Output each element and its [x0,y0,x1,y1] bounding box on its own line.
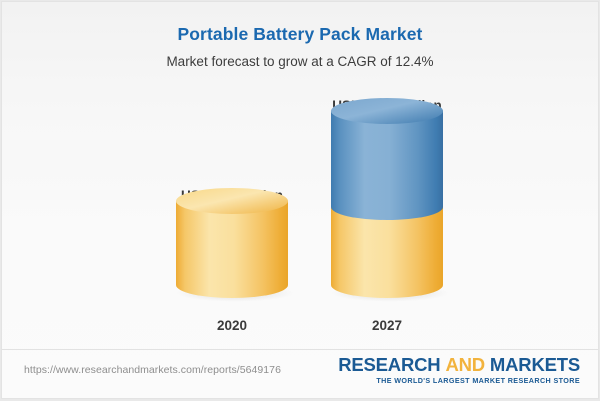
bar-group-2027: USD 17.68 billion [307,2,467,347]
cylinder-2020-svg [167,187,297,307]
brand-logo[interactable]: RESEARCHANDMARKETS THE WORLD'S LARGEST M… [338,355,580,385]
cylinder-2027 [322,97,452,312]
logo-wordmark: RESEARCHANDMARKETS [338,355,580,374]
cylinder-top-cap [331,98,443,124]
cylinder-body [176,201,288,298]
chart-plot-area: USD 7.83 billion [2,2,598,347]
category-label-2027: 2027 [307,318,467,333]
cylinder-segment-base [331,207,443,298]
cylinder-2020 [167,187,297,312]
logo-tagline: THE WORLD'S LARGEST MARKET RESEARCH STOR… [338,376,580,385]
cylinder-segment-growth [331,111,443,220]
logo-word-research: RESEARCH [338,354,440,375]
logo-word-markets: MARKETS [490,354,580,375]
logo-word-and: AND [445,354,484,375]
category-label-2020: 2020 [152,318,312,333]
cylinder-2027-svg [322,97,452,307]
bar-group-2020: USD 7.83 billion [152,2,312,347]
source-url[interactable]: https://www.researchandmarkets.com/repor… [24,364,281,376]
infographic-card: Portable Battery Pack Market Market fore… [1,1,599,399]
cylinder-top-cap [176,188,288,214]
footer: https://www.researchandmarkets.com/repor… [2,350,598,398]
